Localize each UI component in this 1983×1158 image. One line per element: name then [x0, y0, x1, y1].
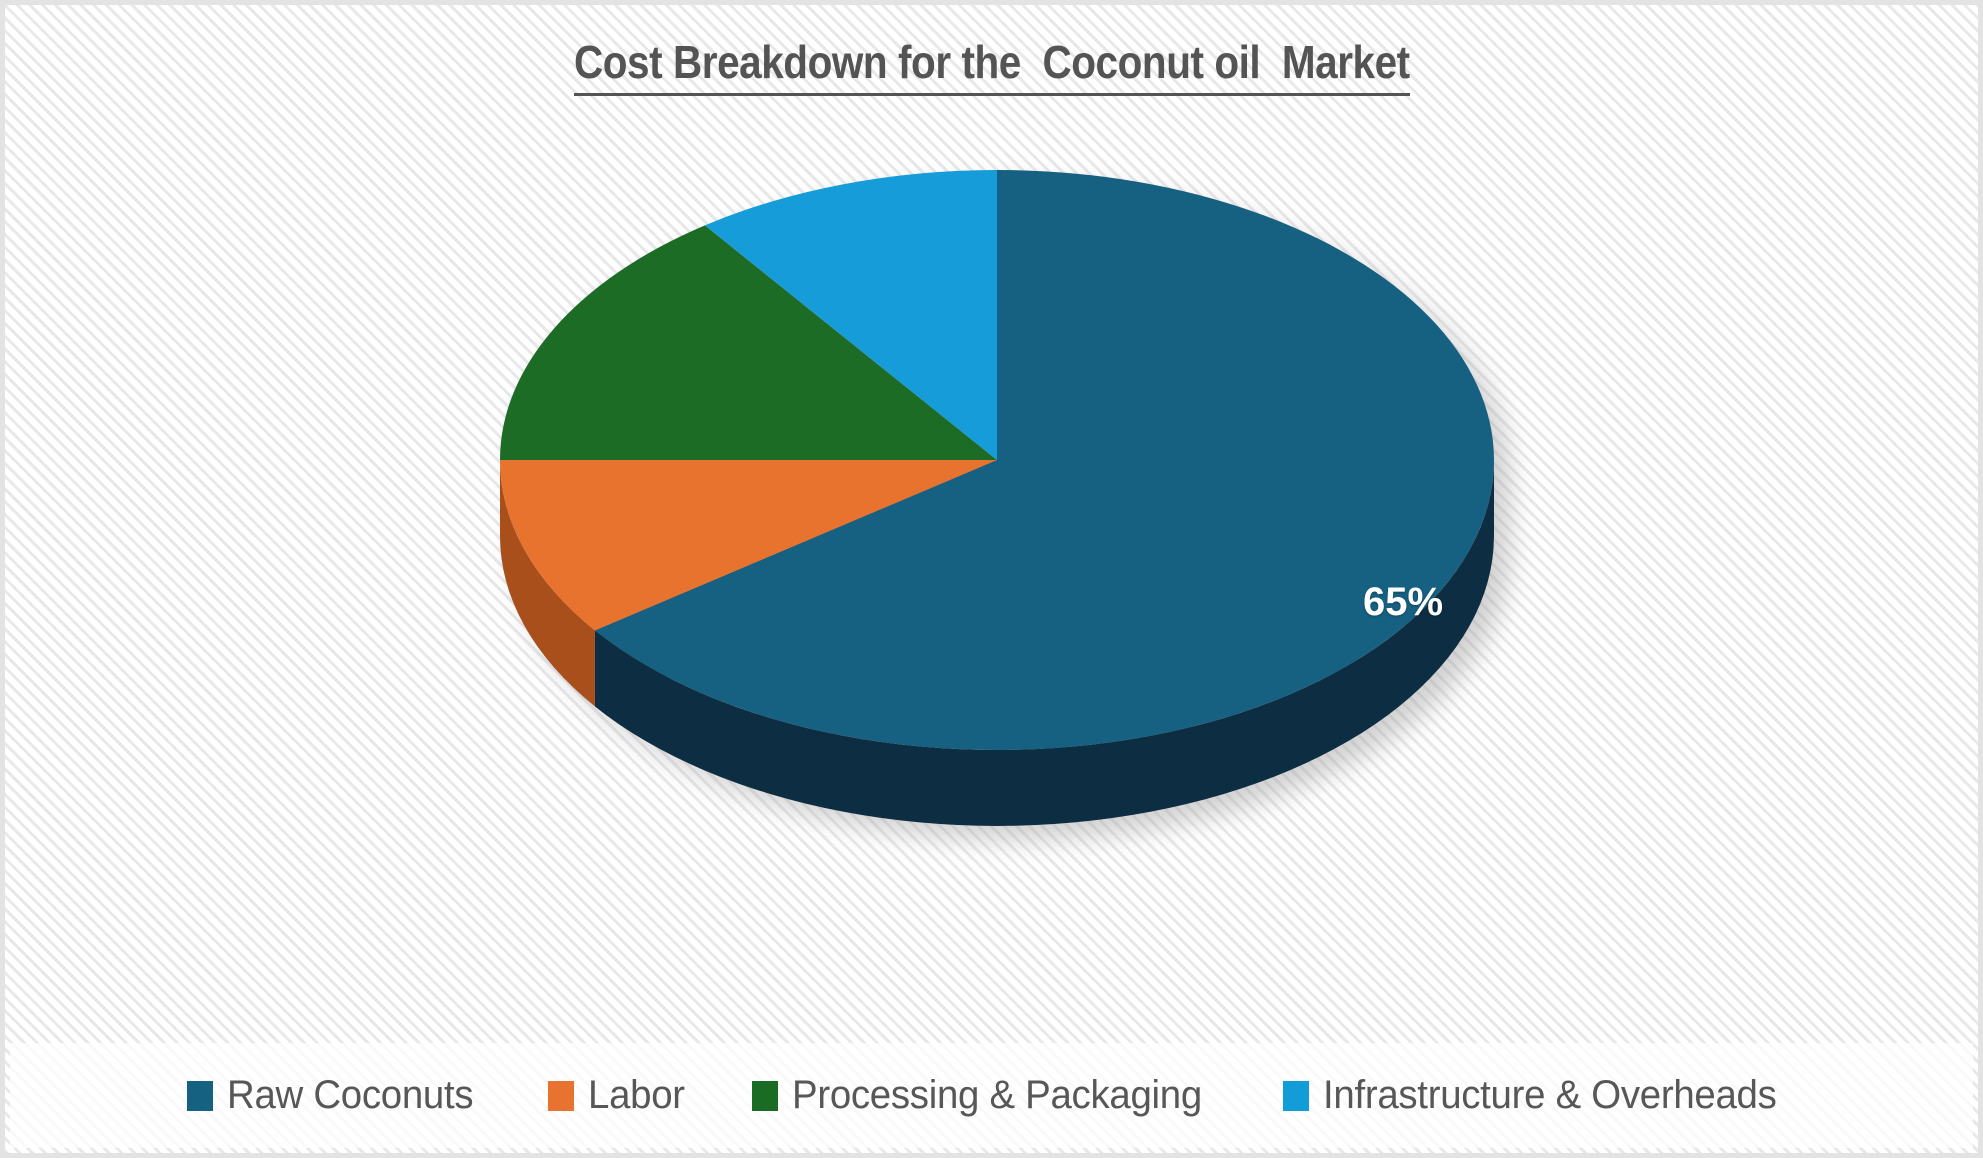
legend-item-label: Raw Coconuts [227, 1073, 473, 1118]
chart-slide: Cost Breakdown for the Coconut oil Marke… [0, 0, 1983, 1158]
legend-item-label: Labor [588, 1073, 685, 1118]
legend-swatch-icon [548, 1081, 574, 1111]
legend-item-raw-coconuts[interactable]: Raw Coconuts [187, 1073, 484, 1118]
pie-body [500, 170, 1494, 826]
legend-item-label: Processing & Packaging [792, 1073, 1202, 1118]
chart-legend: Raw Coconuts Labor Processing & Packagin… [10, 1043, 1973, 1148]
slice-data-label-raw-coconuts: 65% [1323, 580, 1483, 625]
pie-top-surface [500, 170, 1494, 750]
legend-swatch-icon [1283, 1081, 1309, 1111]
legend-item-infrastructure-overheads[interactable]: Infrastructure & Overheads [1283, 1073, 1795, 1118]
legend-swatch-icon [752, 1081, 778, 1111]
pie-chart-svg [5, 5, 1983, 1055]
pie-chart-plot-area: 65% [5, 5, 1983, 1055]
legend-item-labor[interactable]: Labor [548, 1073, 689, 1118]
legend-item-processing-packaging[interactable]: Processing & Packaging [752, 1073, 1219, 1118]
legend-swatch-icon [187, 1081, 213, 1111]
legend-item-label: Infrastructure & Overheads [1323, 1073, 1777, 1118]
